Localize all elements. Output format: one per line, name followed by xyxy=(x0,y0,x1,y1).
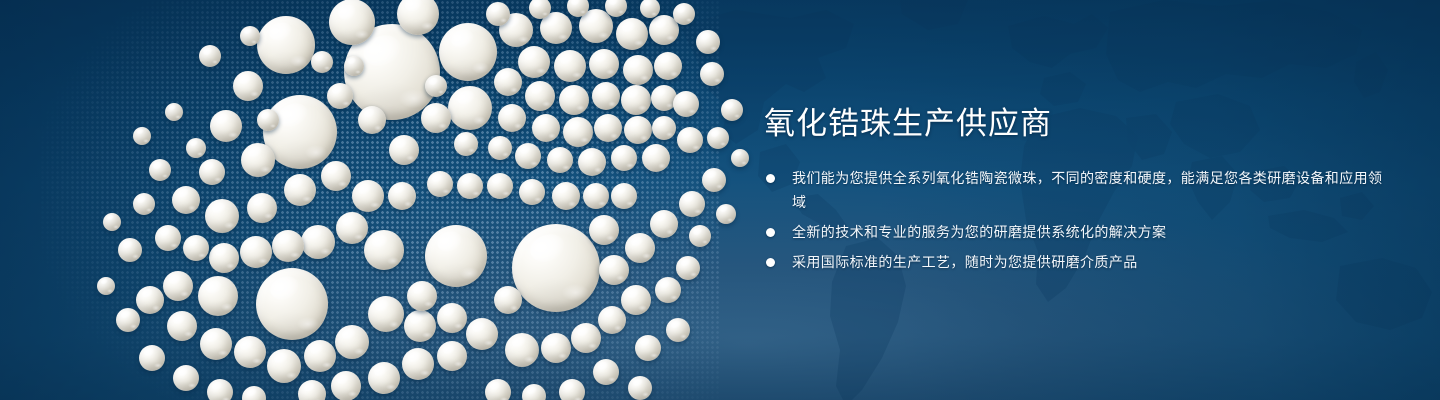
bullet-dot-icon xyxy=(766,258,775,267)
hero-banner: 氧化锆珠生产供应商 我们能为您提供全系列氧化锆陶瓷微珠，不同的密度和硬度，能满足… xyxy=(0,0,1440,400)
list-item: 我们能为您提供全系列氧化锆陶瓷微珠，不同的密度和硬度，能满足您各类研磨设备和应用… xyxy=(764,166,1384,214)
list-item: 全新的技术和专业的服务为您的研磨提供系统化的解决方案 xyxy=(764,220,1384,244)
list-item-label: 采用国际标准的生产工艺，随时为您提供研磨介质产品 xyxy=(792,250,1384,274)
list-item-label: 我们能为您提供全系列氧化锆陶瓷微珠，不同的密度和硬度，能满足您各类研磨设备和应用… xyxy=(792,166,1384,214)
bullet-dot-icon xyxy=(766,174,775,183)
banner-content: 氧化锆珠生产供应商 我们能为您提供全系列氧化锆陶瓷微珠，不同的密度和硬度，能满足… xyxy=(764,104,1384,274)
bullet-dot-icon xyxy=(766,228,775,237)
feature-list: 我们能为您提供全系列氧化锆陶瓷微珠，不同的密度和硬度，能满足您各类研磨设备和应用… xyxy=(764,166,1384,274)
list-item-label: 全新的技术和专业的服务为您的研磨提供系统化的解决方案 xyxy=(792,220,1384,244)
list-item: 采用国际标准的生产工艺，随时为您提供研磨介质产品 xyxy=(764,250,1384,274)
page-title: 氧化锆珠生产供应商 xyxy=(764,104,1384,144)
